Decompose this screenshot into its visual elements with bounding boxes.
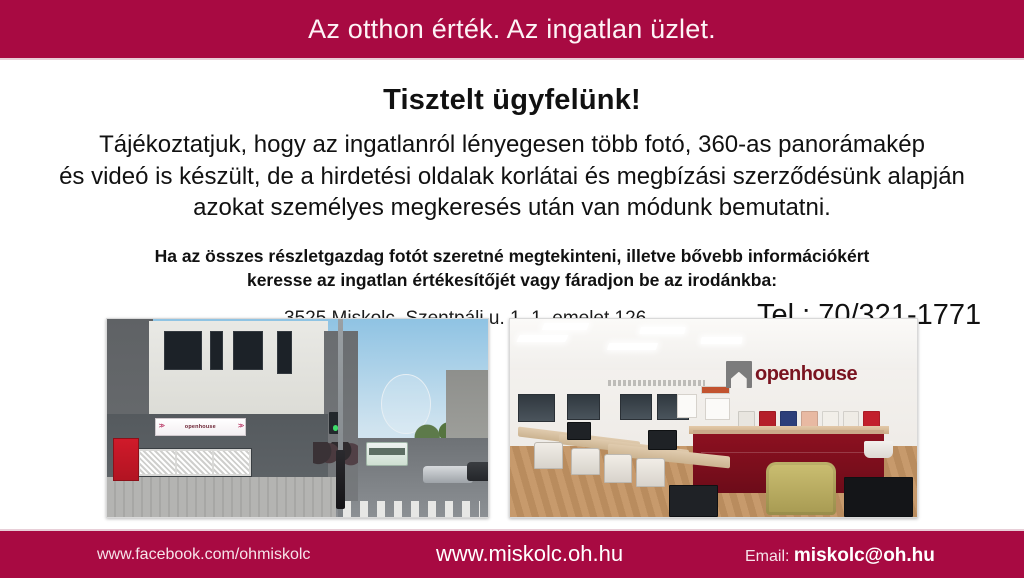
website-link[interactable]: www.miskolc.oh.hu xyxy=(436,541,623,567)
wall-lettering xyxy=(608,380,706,386)
intro-line-1: Tájékoztatjuk, hogy az ingatlanról lénye… xyxy=(14,129,1010,161)
chevron-right-icon: >> xyxy=(238,423,242,430)
listing-sheet xyxy=(214,451,249,475)
dark-car xyxy=(467,462,489,482)
callout-line-1: Ha az összes részletgazdag fotót szeretn… xyxy=(0,244,1024,268)
silver-car xyxy=(423,466,473,484)
ceiling-light xyxy=(701,337,743,344)
pedestrian-foreground xyxy=(336,450,346,509)
callout-paragraph: Ha az összes részletgazdag fotót szeretn… xyxy=(0,244,1024,292)
listing-sheet xyxy=(177,451,212,475)
shop-window-display xyxy=(137,448,251,478)
intro-line-2: és videó is készült, de a hirdetési olda… xyxy=(14,161,1010,193)
potted-plant xyxy=(852,394,905,457)
red-poster-board xyxy=(113,438,140,482)
intro-paragraph: Tájékoztatjuk, hogy az ingatlanról lénye… xyxy=(0,129,1024,224)
office-chair xyxy=(636,458,664,488)
office-window xyxy=(567,394,600,420)
openhouse-wall-logo: openhouse xyxy=(726,359,881,391)
window xyxy=(164,331,202,371)
page-title: Tisztelt ügyfelünk! xyxy=(0,84,1024,117)
window xyxy=(210,331,223,371)
window xyxy=(277,331,292,375)
top-banner: Az otthon érték. Az ingatlan üzlet. xyxy=(0,0,1024,60)
monitor xyxy=(648,430,676,450)
plant-leaves xyxy=(852,394,905,443)
monitor xyxy=(844,477,913,517)
ceiling-light xyxy=(541,323,589,330)
plant-pot xyxy=(864,441,894,457)
photo-office-exterior: >> openhouse >> xyxy=(106,318,489,518)
email-label: Email: xyxy=(745,548,789,565)
wall-poster xyxy=(677,394,697,418)
advertisement-page: Az otthon érték. Az ingatlan üzlet. Tisz… xyxy=(0,0,1024,578)
footer-bar: www.facebook.com/ohmiskolc www.miskolc.o… xyxy=(0,529,1024,578)
openhouse-shop-sign: >> openhouse >> xyxy=(155,418,246,436)
office-window xyxy=(620,394,653,420)
monitor xyxy=(567,422,591,440)
company-slogan: Az otthon érték. Az ingatlan üzlet. xyxy=(308,14,716,45)
main-content: Tisztelt ügyfelünk! Tájékoztatjuk, hogy … xyxy=(0,60,1024,529)
window xyxy=(233,331,263,371)
email-block[interactable]: Email: miskolc@oh.hu xyxy=(745,545,935,567)
office-chair xyxy=(534,442,562,470)
office-window xyxy=(518,394,555,422)
city-bus xyxy=(366,442,408,466)
listing-sheet xyxy=(140,451,175,475)
photo-office-interior: openhouse xyxy=(509,318,918,518)
facebook-link[interactable]: www.facebook.com/ohmiskolc xyxy=(97,546,310,564)
house-icon xyxy=(726,361,752,388)
crosswalk xyxy=(343,501,480,517)
intro-line-3: azokat személyes megkeresés után van mód… xyxy=(14,192,1010,224)
shop-sign-label: openhouse xyxy=(185,424,216,430)
monitor xyxy=(669,485,718,517)
office-chair xyxy=(571,448,599,476)
chevron-left-icon: >> xyxy=(159,423,163,430)
ceiling-light xyxy=(639,327,685,334)
wall-logo-label: openhouse xyxy=(755,364,857,384)
ceiling-light xyxy=(607,343,658,350)
ceiling-light xyxy=(516,335,568,342)
callout-line-2: keresse az ingatlan értékesítőjét vagy f… xyxy=(0,268,1024,292)
sidewalk xyxy=(107,477,336,517)
wall-poster xyxy=(705,398,729,420)
email-address[interactable]: miskolc@oh.hu xyxy=(794,545,935,566)
photo-strip: >> openhouse >> xyxy=(0,318,1024,520)
office-chair xyxy=(604,454,632,484)
executive-chair xyxy=(766,462,835,515)
